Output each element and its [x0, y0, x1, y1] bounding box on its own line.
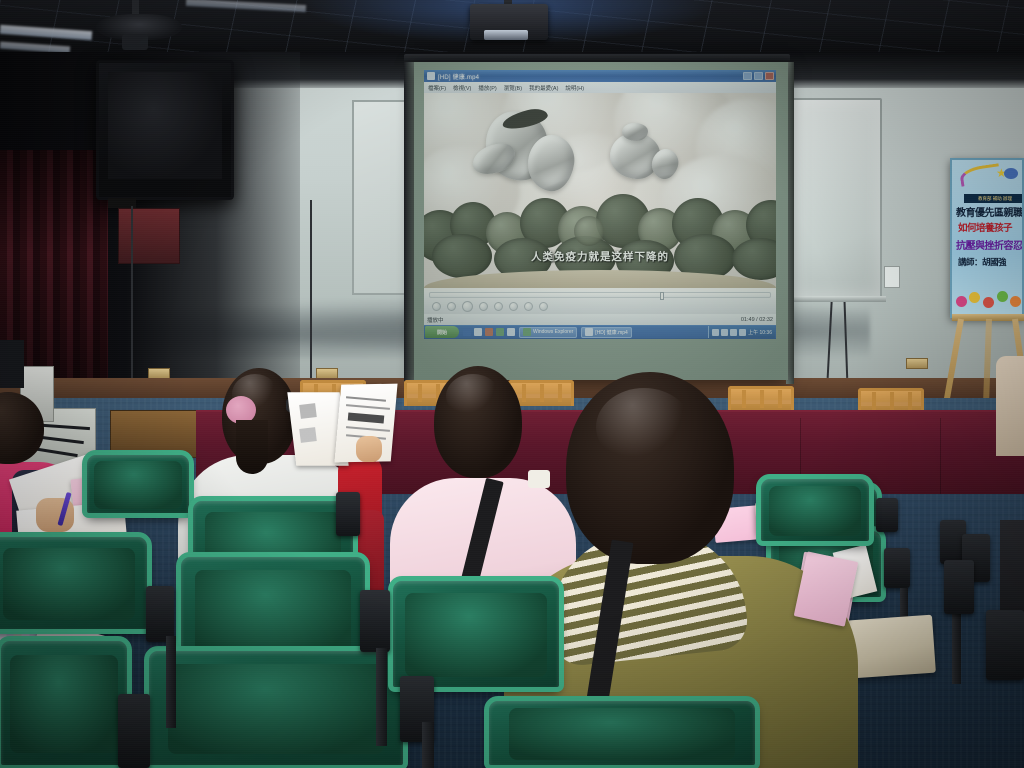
screenshot-root: [HD] 健康.mp4 檔案(F) 檢視(V) 播放(P) 瀏覽(B) 我的最愛…	[0, 0, 1024, 768]
volume-icon[interactable]	[721, 329, 728, 336]
poster-line-1: 教育優先區親職教育	[956, 204, 1024, 219]
close-icon[interactable]	[765, 72, 774, 80]
wall-mounted-tv	[96, 60, 234, 200]
ponytail	[236, 420, 268, 474]
folder-icon[interactable]	[496, 328, 504, 336]
system-tray[interactable]: 上午 10:36	[708, 326, 775, 338]
wall-cable	[131, 206, 133, 378]
auditorium-chair[interactable]	[0, 536, 148, 632]
taskbar-clock: 上午 10:36	[748, 329, 772, 336]
media-player-title: [HD] 健康.mp4	[438, 72, 479, 81]
browser-icon[interactable]	[474, 328, 482, 336]
chair-armrest	[876, 498, 898, 532]
chair-leg	[376, 648, 387, 746]
fullscreen-icon[interactable]	[539, 302, 548, 311]
fast-forward-icon[interactable]	[479, 302, 488, 311]
taskbar-item-explorer[interactable]: Windows Explorer	[519, 327, 577, 338]
menu-item-file[interactable]: 檔案(F)	[428, 84, 446, 92]
chair-spindle	[558, 384, 562, 402]
projected-desktop: [HD] 健康.mp4 檔案(F) 檢視(V) 播放(P) 瀏覽(B) 我的最愛…	[414, 62, 788, 380]
attendee-far-right	[996, 356, 1024, 456]
shield-icon[interactable]	[739, 329, 746, 336]
media-icon[interactable]	[485, 328, 493, 336]
auditorium-chair[interactable]	[0, 640, 128, 768]
germ-head	[622, 123, 648, 141]
video-subtitle: 人类免疫力就是这样下降的	[424, 249, 776, 264]
rewind-icon[interactable]	[447, 302, 456, 311]
whiteboard-right	[790, 98, 882, 298]
stop-icon[interactable]	[509, 302, 518, 311]
player-time-display: 01:49 / 02:32	[741, 317, 773, 323]
chair-leg	[422, 722, 434, 768]
menu-item-play[interactable]: 播放(P)	[478, 84, 496, 92]
transport-controls[interactable]	[432, 301, 548, 312]
monitor	[0, 340, 24, 388]
minimize-icon[interactable]	[743, 72, 752, 80]
poster-line-2: 如何培養孩子	[958, 220, 1012, 234]
chair-spindle	[890, 392, 894, 410]
auditorium-chair[interactable]	[760, 478, 870, 544]
rainbow-icon	[959, 163, 1001, 186]
flower-icon	[983, 297, 994, 308]
cloud-icon	[1004, 168, 1018, 179]
chair-cushion	[3, 548, 136, 621]
booklet-image	[299, 403, 317, 419]
next-icon[interactable]	[494, 302, 503, 311]
media-file-icon	[585, 328, 593, 336]
floor-socket[interactable]	[906, 358, 928, 369]
wall-cable	[310, 200, 312, 378]
windows-taskbar[interactable]: 開始 Windows Explorer [HD] 健康.mp4	[424, 325, 776, 339]
chair-armrest	[986, 610, 1024, 680]
chair-spindle	[540, 384, 544, 402]
menu-item-view[interactable]: 檢視(V)	[453, 84, 471, 92]
network-icon[interactable]	[730, 329, 737, 336]
ime-icon[interactable]	[712, 329, 719, 336]
quick-launch-bar[interactable]	[463, 328, 515, 336]
video-viewport[interactable]: 人类免疫力就是这样下降的	[424, 93, 776, 288]
chair-cushion	[94, 461, 181, 508]
booklet-image	[299, 427, 317, 443]
auditorium-chair[interactable]	[392, 580, 560, 690]
auditorium-chair[interactable]	[148, 650, 404, 768]
chair-cushion	[168, 664, 383, 754]
previous-icon[interactable]	[432, 302, 441, 311]
poster-line-4: 講師：胡國強	[958, 256, 1006, 268]
chair-spindle	[778, 390, 782, 408]
seek-bar[interactable]	[429, 292, 771, 298]
media-file-icon	[427, 72, 435, 80]
seek-thumb[interactable]	[660, 292, 664, 300]
player-status-text: 播放中	[427, 316, 444, 324]
chair-armrest	[944, 560, 974, 614]
chair-cushion	[10, 655, 118, 752]
chair-spindle	[908, 392, 912, 410]
tablecloth-fold	[940, 418, 941, 494]
wall-outlet[interactable]	[884, 266, 900, 288]
ceiling-projector	[470, 4, 548, 40]
name-badge	[528, 470, 550, 488]
chair-armrest	[336, 492, 360, 536]
taskbar-item-explorer-label: Windows Explorer	[533, 329, 573, 335]
extra-icon[interactable]	[507, 328, 515, 336]
media-player-title-bar[interactable]: [HD] 健康.mp4	[424, 70, 776, 82]
easel-leg	[983, 319, 992, 399]
media-player-controls[interactable]	[424, 288, 776, 314]
chair-spindle	[742, 390, 746, 408]
menu-item-favorites[interactable]: 我的最愛(A)	[529, 84, 558, 92]
chair-armrest	[884, 548, 910, 588]
wall-control-box	[118, 208, 180, 264]
flower-icon	[1010, 296, 1021, 307]
chair-spindle	[418, 384, 422, 402]
taskbar-item-media[interactable]: [HD] 健康.mp4	[581, 327, 632, 338]
hair-highlight	[446, 374, 500, 418]
poster-line-3: 抗壓與挫折容忍力	[956, 237, 1024, 252]
chair-cushion	[769, 486, 861, 536]
poster-banner: 教育部 補助 辦理	[964, 194, 1024, 203]
menu-item-help[interactable]: 說明(H)	[565, 84, 584, 92]
taskbar-item-media-label: [HD] 健康.mp4	[595, 329, 628, 336]
start-button-label: 開始	[437, 329, 447, 336]
chair-armrest	[146, 586, 174, 642]
mute-icon[interactable]	[524, 302, 533, 311]
flower-icon	[969, 292, 980, 303]
projection-screen: [HD] 健康.mp4 檔案(F) 檢視(V) 播放(P) 瀏覽(B) 我的最愛…	[414, 62, 788, 380]
chair-leg	[166, 636, 176, 728]
chair-cushion	[405, 593, 546, 677]
window-controls[interactable]	[743, 72, 774, 80]
person-hand	[356, 436, 382, 462]
chair-armrest	[118, 694, 150, 768]
media-player-status-bar: 播放中 01:49 / 02:32	[424, 314, 776, 325]
event-poster: ★ 教育部 補助 辦理 教育優先區親職教育 如何培養孩子 抗壓與挫折容忍力 講師…	[950, 158, 1024, 318]
start-button[interactable]: 開始	[425, 326, 459, 338]
whiteboard-tray	[788, 296, 886, 302]
whiteboard-left	[352, 100, 410, 295]
chair-armrest	[360, 590, 390, 652]
auditorium-chair[interactable]	[86, 454, 190, 516]
play-pause-icon[interactable]	[462, 301, 473, 312]
chair-spindle	[522, 384, 526, 402]
show-desktop-icon[interactable]	[463, 328, 471, 336]
folder-icon	[523, 328, 531, 336]
flower-icon	[956, 296, 967, 307]
chair-spindle	[760, 390, 764, 408]
ceiling-fan-motor	[122, 34, 148, 50]
flower-icon-row	[952, 288, 1024, 314]
maximize-icon[interactable]	[754, 72, 763, 80]
flower-icon	[997, 291, 1008, 302]
hair-highlight	[596, 388, 692, 466]
menu-item-browse[interactable]: 瀏覽(B)	[504, 84, 522, 92]
chair-cushion	[509, 708, 734, 760]
media-player-menu-bar[interactable]: 檔案(F) 檢視(V) 播放(P) 瀏覽(B) 我的最愛(A) 說明(H)	[424, 82, 776, 93]
poster-banner-text: 教育部 補助 辦理	[978, 196, 1012, 202]
chair-spindle	[872, 392, 876, 410]
auditorium-chair[interactable]	[488, 700, 756, 768]
tv-screen	[108, 72, 222, 179]
